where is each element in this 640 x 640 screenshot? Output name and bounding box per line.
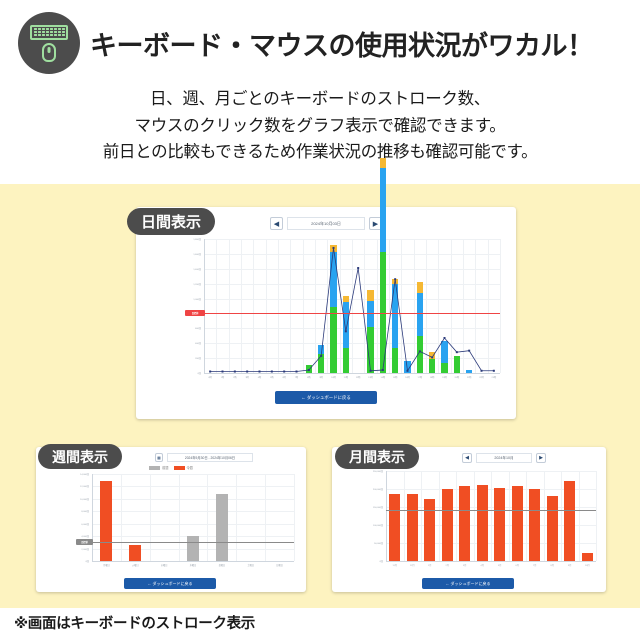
x-axis-tick-label: 11月 <box>393 563 397 567</box>
monthly-next-button[interactable]: ▶ <box>536 453 546 463</box>
description-line-1: 日、週、月ごとのキーボードのストローク数、 <box>0 86 640 113</box>
y-axis-tick-label: 2,000回 <box>66 547 89 551</box>
weekly-legend-curr: 今週 <box>174 465 193 470</box>
monthly-date-value[interactable]: 2024年10月 <box>476 453 532 463</box>
page-root: キーボード・マウスの使用状況がワカル！ 日、週、月ごとのキーボードのストローク数… <box>0 0 640 640</box>
monthly-prev-button[interactable]: ◀ <box>462 453 472 463</box>
comparison-line-series <box>180 239 500 383</box>
daily-plot-area: 0回200回400回600回800回1,000回1,200回1,400回1,60… <box>180 239 500 383</box>
y-axis-tick-label: 6,000回 <box>66 522 89 526</box>
gridline-horizontal <box>92 499 294 500</box>
x-axis-tick-label: 木曜日 <box>190 563 197 567</box>
chart-bar <box>389 494 400 561</box>
y-axis-tick-label: 12,000回 <box>66 484 89 488</box>
x-axis-tick-label: 5月 <box>498 563 501 567</box>
chart-bar <box>459 486 470 561</box>
x-axis-tick-label: 金曜日 <box>219 563 226 567</box>
y-axis-tick-label: 8,000回 <box>66 509 89 513</box>
keyboard-icon <box>30 25 68 40</box>
gridline-vertical <box>265 474 266 561</box>
weekly-legend-curr-swatch <box>174 466 185 470</box>
y-axis-tick-label: 50,000回 <box>360 541 383 545</box>
x-axis-line <box>92 561 294 562</box>
weekly-legend-prev: 前週 <box>149 465 168 470</box>
weekly-legend-prev-swatch <box>149 466 160 470</box>
gridline-horizontal <box>92 524 294 525</box>
gridline-vertical <box>179 474 180 561</box>
chart-bar <box>187 536 199 561</box>
chart-bar <box>529 489 540 561</box>
x-axis-tick-label: 3月 <box>463 563 466 567</box>
daily-prev-button[interactable]: ◀ <box>270 217 283 230</box>
chart-bar <box>547 496 558 561</box>
chart-bar <box>494 488 505 561</box>
gridline-vertical <box>207 474 208 561</box>
keyboard-mouse-icon <box>18 12 80 74</box>
gridline-vertical <box>561 471 562 561</box>
x-axis-tick-label: 10月 <box>585 563 590 567</box>
monthly-tag-label: 月間表示 <box>335 444 419 469</box>
y-axis-tick-label: 250,000回 <box>360 469 383 473</box>
gridline-vertical <box>544 471 545 561</box>
gridline-vertical <box>294 474 295 561</box>
monthly-plot-area: 0回50,000回100,000回150,000回200,000回250,000… <box>360 471 596 571</box>
monthly-return-button[interactable]: ← ダッシュボードに戻る <box>422 578 514 589</box>
x-axis-tick-label: 6月 <box>516 563 519 567</box>
average-line <box>386 510 596 511</box>
x-axis-tick-label: 土曜日 <box>247 563 254 567</box>
x-axis-tick-label: 2月 <box>446 563 449 567</box>
weekly-plot-area: 0回2,000回4,000回6,000回8,000回10,000回12,000回… <box>66 474 294 571</box>
x-axis-tick-label: 4月 <box>481 563 484 567</box>
gridline-vertical <box>121 474 122 561</box>
x-axis-tick-label: 月曜日 <box>103 563 110 567</box>
weekly-return-button[interactable]: ← ダッシュボードに戻る <box>124 578 216 589</box>
chart-bar <box>564 481 575 561</box>
y-axis-tick-label: 14,000回 <box>66 472 89 476</box>
gridline-vertical <box>474 471 475 561</box>
chart-bar <box>512 486 523 561</box>
chart-bar <box>442 489 453 561</box>
gridline-vertical <box>236 474 237 561</box>
x-axis-tick-label: 火曜日 <box>132 563 139 567</box>
gridline-vertical <box>456 471 457 561</box>
header-description: 日、週、月ごとのキーボードのストローク数、 マウスのクリック数をグラフ表示で確認… <box>0 86 640 166</box>
target-value-badge: 目標値 <box>76 539 93 545</box>
gridline-horizontal <box>92 511 294 512</box>
description-line-3: 前日との比較もできるため作業状況の推移も確認可能です。 <box>0 139 640 166</box>
weekly-legend-curr-label: 今週 <box>187 465 193 470</box>
daily-date-value[interactable]: 2024年10月03日 <box>287 217 365 230</box>
footnote-caption: ※画面はキーボードのストローク表示 <box>14 612 255 633</box>
weekly-tag-label: 週間表示 <box>38 444 122 469</box>
gridline-vertical <box>596 471 597 561</box>
x-axis-line <box>386 561 596 562</box>
mouse-icon <box>42 43 56 62</box>
gridline-vertical <box>439 471 440 561</box>
header-title-row: キーボード・マウスの使用状況がワカル！ <box>0 12 640 74</box>
gridline-horizontal <box>92 486 294 487</box>
gridline-vertical <box>579 471 580 561</box>
gridline-vertical <box>421 471 422 561</box>
weekly-legend-prev-label: 前週 <box>162 465 168 470</box>
y-axis-tick-label: 4,000回 <box>66 534 89 538</box>
x-axis-tick-label: 1月 <box>428 563 431 567</box>
x-axis-tick-label: 日曜日 <box>276 563 283 567</box>
gridline-vertical <box>526 471 527 561</box>
y-axis-tick-label: 100,000回 <box>360 523 383 527</box>
y-axis-line <box>92 474 93 561</box>
chart-bar <box>216 494 228 561</box>
x-axis-tick-label: 水曜日 <box>161 563 168 567</box>
y-axis-tick-label: 0回 <box>66 559 89 563</box>
gridline-vertical <box>491 471 492 561</box>
x-axis-tick-label: 8月 <box>551 563 554 567</box>
target-line <box>204 313 500 314</box>
y-axis-tick-label: 10,000回 <box>66 497 89 501</box>
gridline-vertical <box>150 474 151 561</box>
chart-bar <box>477 485 488 561</box>
weekly-calendar-icon[interactable]: ▦ <box>155 453 163 462</box>
x-axis-tick-label: 12月 <box>410 563 415 567</box>
gridline-horizontal <box>92 474 294 475</box>
chart-bar <box>380 158 386 168</box>
y-axis-tick-label: 200,000回 <box>360 487 383 491</box>
daily-tag-label: 日間表示 <box>127 208 215 235</box>
y-axis-tick-label: 150,000回 <box>360 505 383 509</box>
gridline-vertical <box>404 471 405 561</box>
header: キーボード・マウスの使用状況がワカル！ 日、週、月ごとのキーボードのストローク数… <box>0 0 640 166</box>
page-title: キーボード・マウスの使用状況がワカル！ <box>90 24 594 63</box>
chart-bar <box>582 553 593 561</box>
description-line-2: マウスのクリック数をグラフ表示で確認できます。 <box>0 113 640 140</box>
gridline-vertical <box>500 239 501 373</box>
daily-return-button[interactable]: ← ダッシュボードに戻る <box>275 391 377 404</box>
gridline-vertical <box>509 471 510 561</box>
y-axis-line <box>386 471 387 561</box>
x-axis-tick-label: 9月 <box>568 563 571 567</box>
x-axis-tick-label: 7月 <box>533 563 536 567</box>
chart-bar <box>424 499 435 561</box>
chart-bar <box>100 481 112 561</box>
target-value-badge: 目標値 <box>185 310 205 316</box>
target-line <box>92 542 294 543</box>
y-axis-tick-label: 0回 <box>360 559 383 563</box>
weekly-date-value[interactable]: 2024年9月30日 - 2024年10月06日 <box>167 453 253 462</box>
chart-bar <box>129 545 141 561</box>
daily-chart-card: ◀ 2024年10月03日 ▶ 0回200回400回600回800回1,000回… <box>136 207 516 419</box>
chart-bar <box>407 494 418 561</box>
